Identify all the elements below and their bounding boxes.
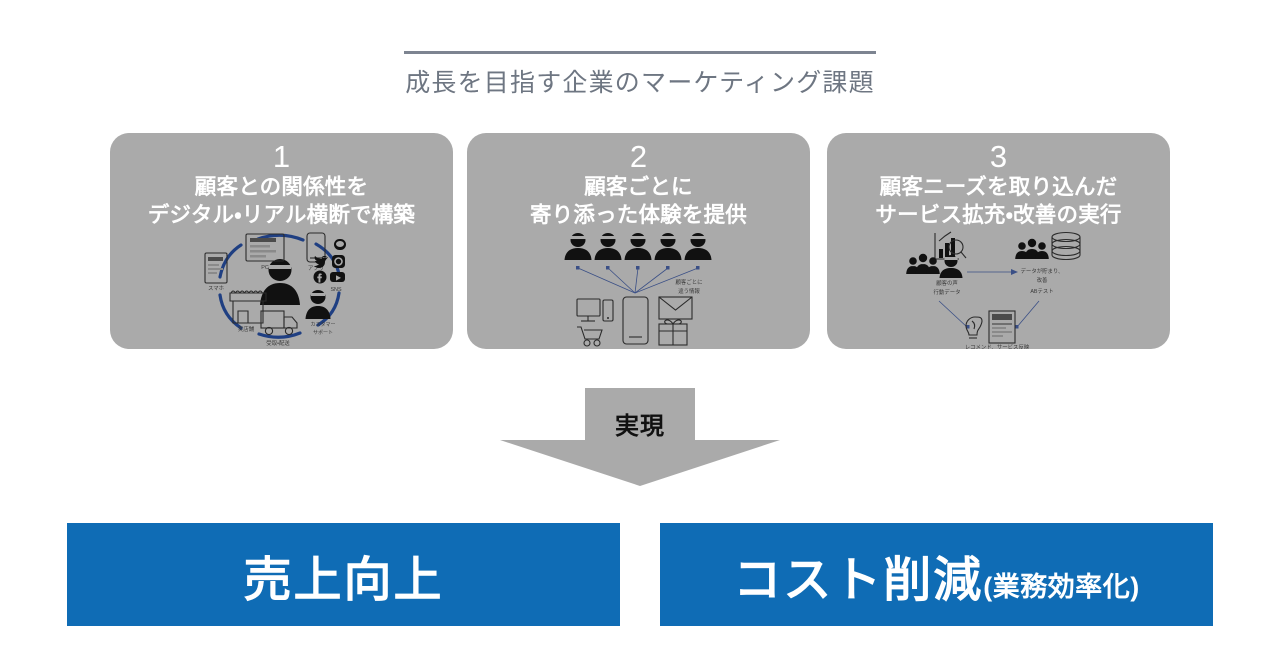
support-person-icon xyxy=(306,290,331,319)
challenge-card-1[interactable]: 1 顧客との関係性を デジタル・リアル横断で構築 xyxy=(110,133,453,349)
label-recommend: レコメンド、サービス反映 xyxy=(965,343,1030,349)
label-smartphone: スマホ xyxy=(208,285,225,292)
card-2-illustration: 顧客ごとに 違う情報 xyxy=(467,231,810,349)
customer-figures xyxy=(565,233,712,260)
realize-label: 実現 xyxy=(500,388,780,458)
card-2-number: 2 xyxy=(467,138,810,176)
card-3-heading-line1: 顧客ニーズを取り込んだ xyxy=(880,175,1118,199)
card-2-annotation-line2: 違う情報 xyxy=(678,287,700,295)
card-1-heading-line1: 顧客との関係性を xyxy=(195,175,368,199)
card-3-illustration: 顧客の声 行動データ xyxy=(827,231,1170,349)
arrow-to-recommend-left xyxy=(939,301,970,329)
label-data-line2: 改善 xyxy=(1037,276,1048,284)
label-support-line1: カスタマー xyxy=(310,321,335,328)
label-support-line2: サポート xyxy=(313,329,333,336)
outcome-cost-sub: (業務効率化) xyxy=(983,565,1139,604)
label-data-line3: ABテスト xyxy=(1030,288,1053,295)
outcome-sales-label: 売上向上 xyxy=(243,540,443,610)
title-divider xyxy=(404,51,876,54)
pc-icon xyxy=(246,234,284,261)
outcome-sales-text: 売上向上 xyxy=(243,540,443,610)
group-icon-right xyxy=(1015,239,1049,259)
card-1-illustration: PC アプリ スマホ xyxy=(110,231,453,349)
arrow-to-recommend-right xyxy=(1015,301,1039,329)
document-icon xyxy=(989,311,1015,343)
label-data-line1: データが貯まり、 xyxy=(1021,267,1064,275)
label-delivery: 受取・配送 xyxy=(266,339,290,347)
card-3-heading-line2: サービス拡充・改善の実行 xyxy=(827,201,1170,229)
database-icon xyxy=(1052,233,1080,260)
challenge-cards: 1 顧客との関係性を デジタル・リアル横断で構築 xyxy=(110,133,1173,349)
label-store: 実店舗 xyxy=(238,325,255,333)
card-2-heading-line2: 寄り添った体験を提供 xyxy=(467,201,810,229)
card-2-heading-line1: 顧客ごとに xyxy=(584,175,693,199)
outcome-cost-text: コスト削減 (業務効率化) xyxy=(733,540,1140,610)
label-pc: PC xyxy=(261,265,269,271)
card-3-number: 3 xyxy=(827,138,1170,176)
label-voice-line2: 行動データ xyxy=(934,288,961,296)
truck-icon xyxy=(261,311,297,335)
outcome-cost-label: コスト削減 xyxy=(733,540,983,610)
instagram-icon xyxy=(332,255,345,268)
page-title: 成長を目指す企業のマーケティング課題 xyxy=(0,66,1280,100)
card-2-annotation-line1: 顧客ごとに xyxy=(676,278,703,286)
channel-icons xyxy=(577,297,692,346)
arrow-to-data xyxy=(967,269,1018,275)
challenge-card-2[interactable]: 2 顧客ごとに 寄り添った体験を提供 xyxy=(467,133,810,349)
card-1-heading: 顧客との関係性を デジタル・リアル横断で構築 xyxy=(110,173,453,229)
outcome-cost-box[interactable]: コスト削減 (業務効率化) xyxy=(660,523,1213,626)
label-sns: SNS xyxy=(330,287,341,293)
card-3-heading: 顧客ニーズを取り込んだ サービス拡充・改善の実行 xyxy=(827,173,1170,229)
outcome-sales-box[interactable]: 売上向上 xyxy=(67,523,620,626)
card-1-number: 1 xyxy=(110,138,453,176)
chart-magnifier-icon xyxy=(935,232,966,259)
label-voice-line1: 顧客の声 xyxy=(936,279,958,287)
card-1-heading-line2: デジタル・リアル横断で構築 xyxy=(110,201,453,229)
card-2-heading: 顧客ごとに 寄り添った体験を提供 xyxy=(467,173,810,229)
challenge-card-3[interactable]: 3 顧客ニーズを取り込んだ サービス拡充・改善の実行 xyxy=(827,133,1170,349)
